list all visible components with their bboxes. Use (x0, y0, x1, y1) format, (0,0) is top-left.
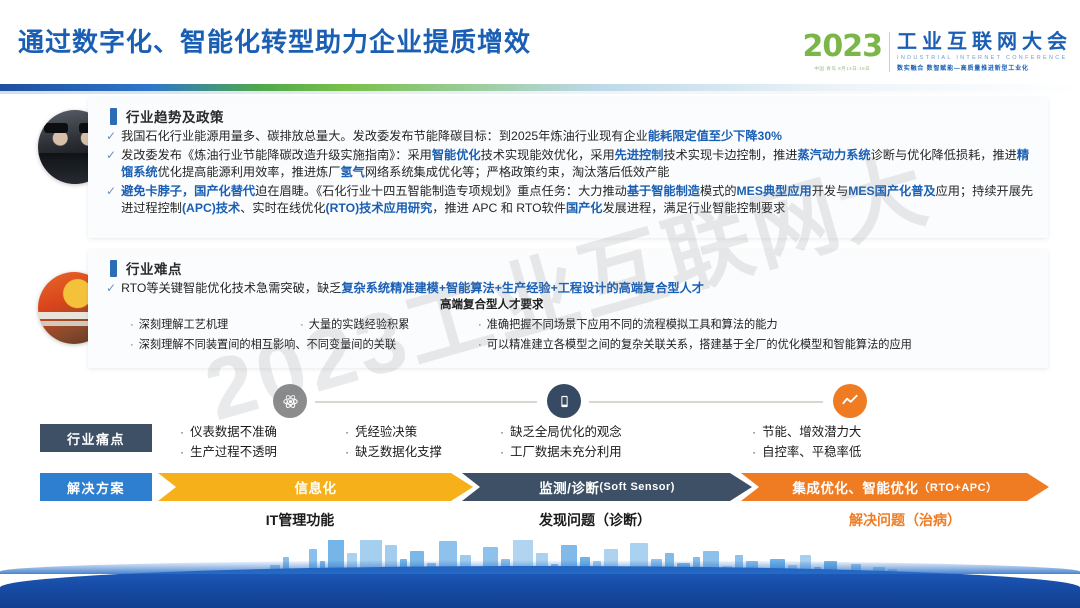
card-title: 行业趋势及政策 (126, 106, 224, 126)
tablet-icon (547, 384, 581, 418)
stage-sublabel: (Soft Sensor) (599, 481, 675, 493)
logo-english-name: INDUSTRIAL INTERNET CONFERENCE (897, 55, 1072, 61)
pain-point-column: ·节能、增效潜力大·自控率、平稳率低 (752, 422, 861, 462)
highlighted-text: 先进控制 (615, 148, 664, 162)
header-accent-rule (0, 84, 1080, 91)
highlighted-text: 复杂系统精准建模+智能算法+生产经验+工程设计的高端复合型人才 (341, 281, 704, 295)
pain-point-label: 节能、增效潜力大 (762, 425, 861, 439)
footer-wave-graphic (0, 566, 1080, 608)
pain-point-column: ·仪表数据不准确·生产过程不透明 (180, 422, 277, 462)
talent-item-label: 深刻理解工艺机理 (139, 319, 229, 331)
list-item: ✓ 我国石化行业能源用量多、碳排放总量大。发改委发布节能降碳目标：到2025年炼… (106, 128, 1038, 146)
body-text: 技术实现能效优化，采用 (481, 148, 615, 162)
bullet-dot-icon: · (130, 339, 134, 351)
slide-header: 通过数字化、智能化转型助力企业提质增效 2023 中国·青岛 8月14日-16日… (0, 0, 1080, 86)
stage-label: 监测/诊断 (539, 477, 599, 497)
stage-description-heading: 发现问题（诊断） (450, 510, 740, 530)
slide-canvas: 通过数字化、智能化转型助力企业提质增效 2023 中国·青岛 8月14日-16日… (0, 0, 1080, 608)
talent-item: ·准确把握不同场景下应用不同的流程模拟工具和算法的能力 (478, 316, 1038, 335)
logo-year: 2023 (803, 32, 883, 62)
logo-tagline: 数实融合 数智赋能—高质量推进新型工业化 (897, 63, 1072, 72)
bullet-dot-icon: · (752, 445, 756, 459)
check-icon: ✓ (106, 183, 116, 200)
bullet-dot-icon: · (180, 445, 184, 459)
timeline-connector (315, 401, 537, 403)
body-text: 、实时在线优化 (240, 201, 325, 215)
stage-chevron-monitoring[interactable]: 监测/诊断(Soft Sensor) (462, 473, 752, 501)
pain-point-label: 凭经验决策 (355, 425, 417, 439)
stage-sublabel: （RTO+APC） (918, 479, 997, 495)
list-item: ✓ 避免卡脖子，国产化替代迫在眉睫。《石化行业十四五智能制造专项规划》重点任务：… (106, 183, 1038, 218)
stage-label: 信息化 (295, 477, 337, 497)
body-text: ，推进 APC 和 RTO软件 (432, 201, 566, 215)
trend-line-3: 避免卡脖子，国产化替代迫在眉睫。《石化行业十四五智能制造专项规划》重点任务：大力… (121, 183, 1038, 218)
title-accent-bar (110, 260, 117, 277)
bullet-dot-icon: · (300, 319, 304, 331)
talent-item-label: 大量的实践经验积累 (309, 319, 410, 331)
card-title-row: 行业趋势及政策 (110, 106, 224, 126)
pain-point-item: ·凭经验决策 (345, 422, 442, 442)
talent-item-label: 可以精准建立各模型之间的复杂关联关系，搭建基于全厂的优化模型和智能算法的应用 (487, 339, 912, 351)
pain-point-column: ·凭经验决策·缺乏数据化支撑 (345, 422, 442, 462)
body-text: 迫在眉睫。《石化行业十四五智能制造专项规划》重点任务：大力推动 (255, 184, 627, 198)
bullet-dot-icon: · (478, 319, 482, 331)
difficulty-bullet-list: ✓ RTO等关键智能优化技术急需突破，缺乏复杂系统精准建模+智能算法+生产经验+… (106, 280, 1038, 299)
bullet-dot-icon: · (478, 339, 482, 351)
pain-point-label: 自控率、平稳率低 (762, 445, 861, 459)
highlighted-text: 蒸汽动力系统 (797, 148, 870, 162)
logo-year-subtitle: 中国·青岛 8月14日-16日 (814, 66, 870, 72)
photo-detail (44, 123, 68, 133)
industry-trend-card: 行业趋势及政策 ✓ 我国石化行业能源用量多、碳排放总量大。发改委发布节能降碳目标… (88, 98, 1048, 238)
bullet-dot-icon: · (345, 425, 349, 439)
pain-point-item: ·缺乏全局优化的观念 (500, 422, 622, 442)
solution-row-label: 解决方案 (40, 473, 152, 501)
pain-point-label: 工厂数据未充分利用 (510, 445, 622, 459)
pain-point-item: ·缺乏数据化支撑 (345, 442, 442, 462)
talent-item-label: 深刻理解不同装置间的相互影响、不同变量间的关联 (139, 339, 396, 351)
body-text: 模式的 (700, 184, 737, 198)
pain-point-column: ·缺乏全局优化的观念·工厂数据未充分利用 (500, 422, 622, 462)
pain-point-item: ·工厂数据未充分利用 (500, 442, 622, 462)
highlighted-text: (RTO)技术应用研究 (326, 201, 433, 215)
body-text: 发展进程，满足行业智能控制要求 (603, 201, 786, 215)
body-text: 诊断与优化降低损耗，推进 (871, 148, 1017, 162)
timeline-connector (589, 401, 823, 403)
logo-chinese-name: 工业互联网大会 (897, 32, 1072, 52)
card-title-row: 行业难点 (110, 258, 182, 278)
bullet-dot-icon: · (130, 319, 134, 331)
highlighted-text: MES国产化普及 (848, 184, 935, 198)
highlighted-text: 避免卡脖子，国产化替代 (121, 184, 255, 198)
highlighted-text: 国产化 (566, 201, 603, 215)
stage-description-heading: 解决问题（治病） (755, 510, 1055, 530)
talent-item: ·深刻理解不同装置间的相互影响、不同变量间的关联 (130, 336, 490, 355)
highlighted-text: 基于智能制造 (627, 184, 700, 198)
conference-logo: 2023 中国·青岛 8月14日-16日 工业互联网大会 INDUSTRIAL … (803, 32, 1073, 72)
talent-item: ·可以精准建立各模型之间的复杂关联关系，搭建基于全厂的优化模型和智能算法的应用 (478, 336, 1078, 355)
body-text: 网络系统集成优化等；严格政策约束，淘汰落后低效产能 (365, 165, 670, 179)
difficulty-line: RTO等关键智能优化技术急需突破，缺乏复杂系统精准建模+智能算法+生产经验+工程… (121, 280, 704, 298)
trend-up-icon (833, 384, 867, 418)
slide-footer (0, 540, 1080, 608)
bullet-dot-icon: · (500, 425, 504, 439)
body-text: 我国石化行业能源用量多、碳排放总量大。发改委发布节能降碳目标：到2025年炼油行… (121, 129, 648, 143)
body-text: 技术实现卡边控制，推进 (663, 148, 797, 162)
check-icon: ✓ (106, 147, 116, 164)
highlighted-text: 智能优化 (432, 148, 481, 162)
body-text: 优化提高能源利用效率，推进炼厂 (158, 165, 341, 179)
pain-point-label: 缺乏全局优化的观念 (510, 425, 622, 439)
bullet-dot-icon: · (752, 425, 756, 439)
check-icon: ✓ (106, 128, 116, 145)
trend-line-1: 我国石化行业能源用量多、碳排放总量大。发改委发布节能降碳目标：到2025年炼油行… (121, 128, 782, 146)
list-item: ✓ RTO等关键智能优化技术急需突破，缺乏复杂系统精准建模+智能算法+生产经验+… (106, 280, 1038, 298)
list-item: ✓ 发改委发布《炼油行业节能降碳改造升级实施指南》：采用智能优化技术实现能效优化… (106, 147, 1038, 182)
talent-item: ·深刻理解工艺机理 (130, 316, 300, 335)
highlighted-text: (APC)技术 (182, 201, 240, 215)
card-title: 行业难点 (126, 258, 182, 278)
pain-point-label: 缺乏数据化支撑 (355, 445, 442, 459)
bullet-dot-icon: · (345, 445, 349, 459)
stage-chevron-informatization[interactable]: 信息化 (158, 473, 473, 501)
pain-point-label: 仪表数据不准确 (190, 425, 277, 439)
pain-point-item: ·节能、增效潜力大 (752, 422, 861, 442)
trend-bullet-list: ✓ 我国石化行业能源用量多、碳排放总量大。发改委发布节能降碳目标：到2025年炼… (106, 128, 1038, 219)
highlighted-text: 能耗限定值至少下降30% (648, 129, 782, 143)
highlighted-text: 氢气 (340, 165, 364, 179)
pain-point-label: 生产过程不透明 (190, 445, 277, 459)
talent-item-label: 准确把握不同场景下应用不同的流程模拟工具和算法的能力 (487, 319, 778, 331)
stage-chevron-optimization[interactable]: 集成优化、智能优化（RTO+APC） (741, 473, 1049, 501)
atom-icon (273, 384, 307, 418)
talent-item: ·大量的实践经验积累 (300, 316, 480, 335)
header-accent-rule-secondary (0, 91, 1080, 94)
stage-label: 集成优化、智能优化 (792, 477, 918, 497)
talent-heading: 高端复合型人才要求 (440, 296, 544, 312)
bullet-dot-icon: · (500, 445, 504, 459)
body-text: RTO等关键智能优化技术急需突破，缺乏 (121, 281, 341, 295)
pain-point-item: ·自控率、平稳率低 (752, 442, 861, 462)
logo-divider (889, 32, 890, 72)
page-title: 通过数字化、智能化转型助力企业提质增效 (18, 22, 531, 59)
title-accent-bar (110, 108, 117, 125)
highlighted-text: MES典型应用 (737, 184, 812, 198)
pain-point-item: ·生产过程不透明 (180, 442, 277, 462)
body-text: 开发与 (812, 184, 849, 198)
pain-point-item: ·仪表数据不准确 (180, 422, 277, 442)
trend-line-2: 发改委发布《炼油行业节能降碳改造升级实施指南》：采用智能优化技术实现能效优化，采… (121, 147, 1038, 182)
bullet-dot-icon: · (180, 425, 184, 439)
check-icon: ✓ (106, 280, 116, 297)
stage-description-heading: IT管理功能 (180, 510, 420, 530)
pain-point-row-label: 行业痛点 (40, 424, 152, 452)
body-text: 发改委发布《炼油行业节能降碳改造升级实施指南》：采用 (121, 148, 432, 162)
